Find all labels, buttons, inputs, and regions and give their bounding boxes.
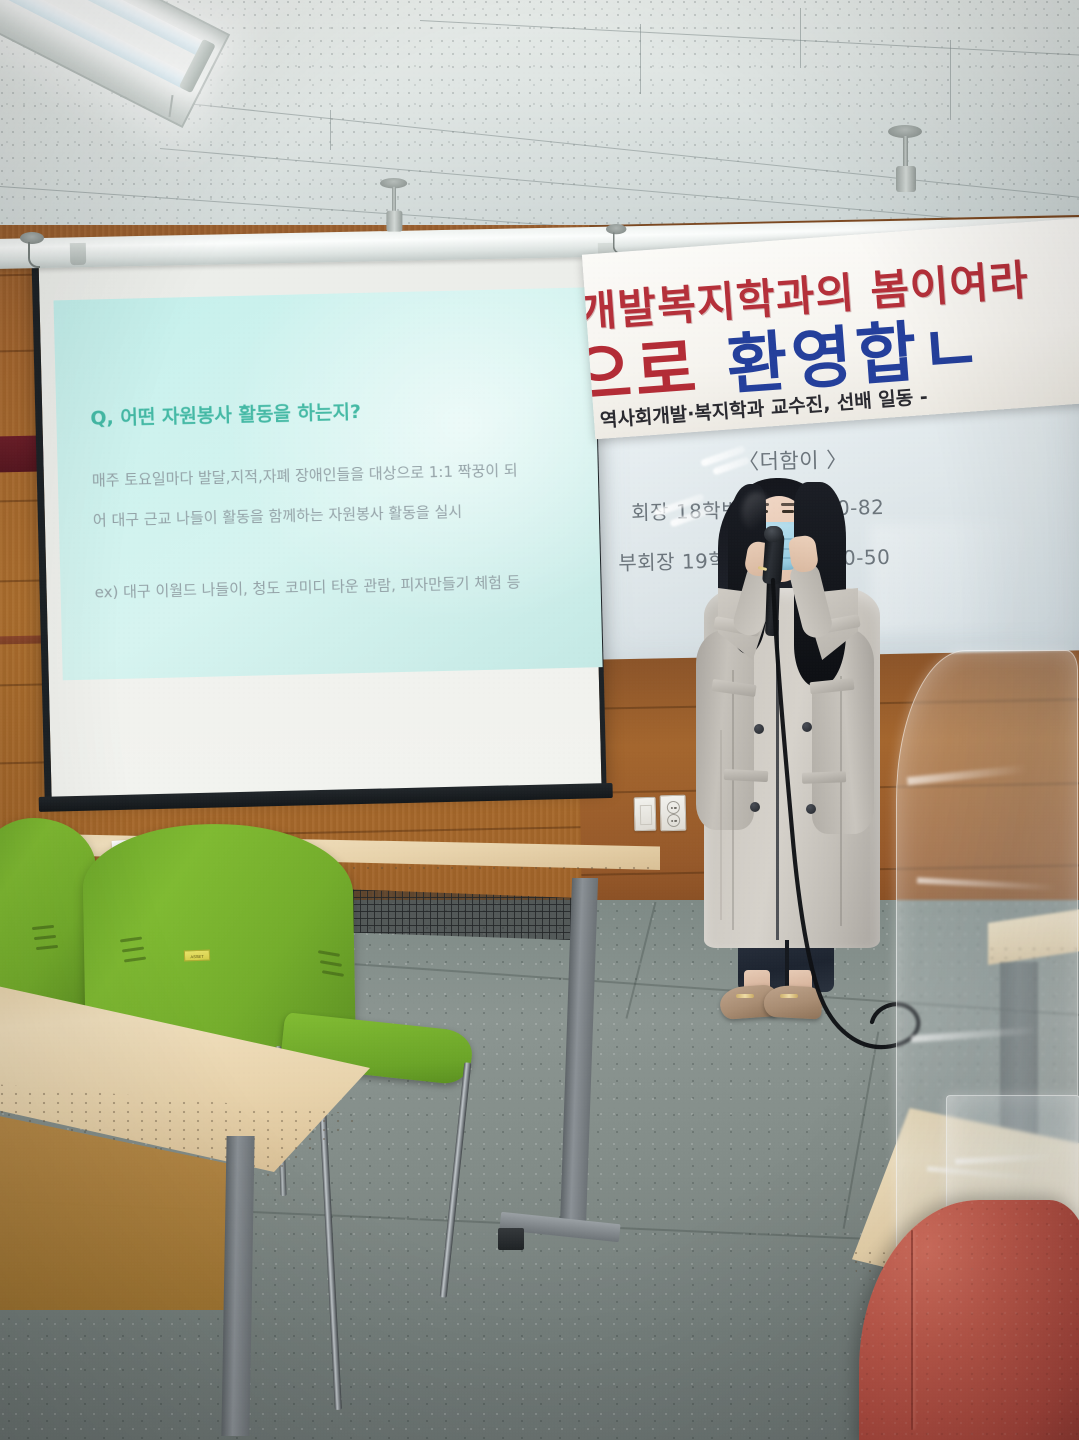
ceiling [0, 0, 1079, 250]
coat-button [754, 724, 764, 734]
ceiling-tile-seam [330, 110, 331, 150]
power-socket[interactable] [667, 801, 680, 814]
coat-button [802, 722, 812, 732]
chair-asset-tag: ASSET [184, 950, 210, 962]
power-outlet-plate[interactable] [660, 795, 687, 832]
loafer-bit-detail [736, 994, 754, 998]
chair-backrest[interactable] [0, 818, 96, 1018]
coat-belt-loop [724, 769, 769, 782]
projected-slide: Q, 어떤 자원봉사 활동을 하는지? 매주 토요일마다 발달,지적,자폐 장애… [54, 287, 603, 680]
screen-surface: Q, 어떤 자원봉사 활동을 하는지? 매주 토요일마다 발달,지적,자폐 장애… [31, 245, 606, 799]
coat-button [806, 804, 816, 814]
whiteboard-glare [870, 520, 1072, 634]
coat-sleeve-left [696, 630, 754, 830]
blank-wall-plate [634, 797, 657, 831]
desk-leg-vertical [221, 1136, 254, 1436]
welcome-banner: 개발복지학과의 봄이여라 으로 환영합ㄴ 역사회개발·복지학과 교수진, 선배 … [582, 218, 1079, 439]
presenter [690, 470, 890, 1050]
loafer-right [763, 985, 823, 1020]
eyebrow [781, 503, 795, 506]
coat-placket [776, 620, 779, 940]
ceiling-tile-seam [800, 8, 801, 68]
desk-foot-glide [498, 1228, 524, 1250]
power-socket[interactable] [667, 814, 680, 827]
roller-end-cap [70, 243, 86, 265]
eye [782, 510, 794, 513]
jeans-gap [785, 940, 789, 990]
coat-button [750, 802, 760, 812]
ceiling-tile-seam [640, 24, 641, 94]
projector-screen: Q, 어떤 자원봉사 활동을 하는지? 매주 토요일마다 발달,지적,자폐 장애… [31, 245, 606, 799]
ceiling-tile-seam [950, 40, 951, 120]
coat-belt-loop [802, 771, 846, 784]
microphone-lower-body [765, 578, 780, 636]
loafer-bit-detail [780, 994, 798, 998]
classroom-photo: 〈더함이 〉 회장 18학번 김채원 010-82 부회장 19학번 김가현 0… [0, 0, 1079, 1440]
microphone-head [764, 526, 783, 542]
